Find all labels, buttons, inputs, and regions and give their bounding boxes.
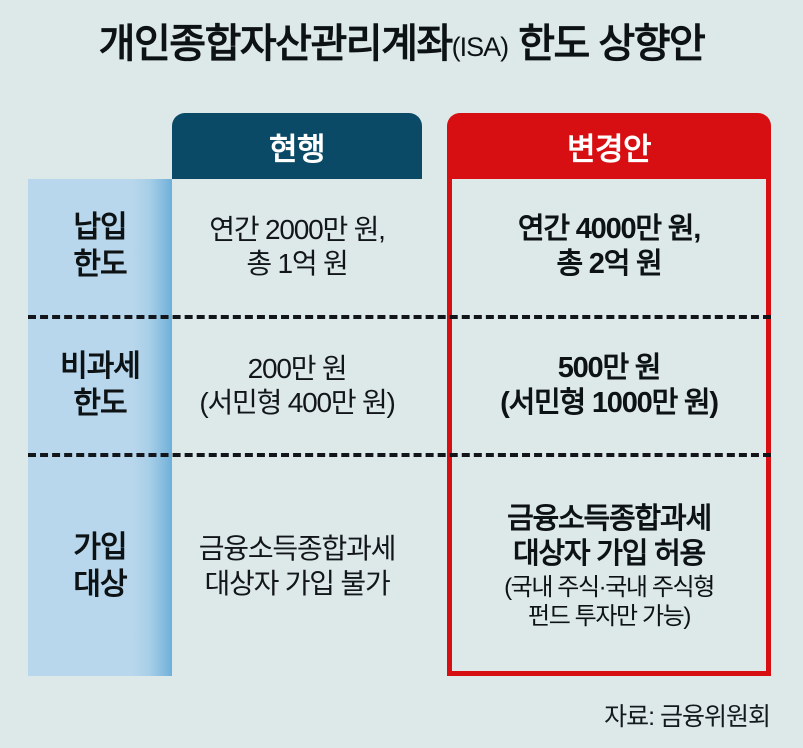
cell-current-payment-limit: 연간 2000만 원, 총 1억 원 xyxy=(172,179,422,315)
cell-note-line2: 펀드 투자만 가능) xyxy=(528,602,690,631)
cell-line1: 200만 원 xyxy=(248,352,347,386)
page-title-tail: 한도 상향안 xyxy=(508,24,704,64)
cell-line2: 대상자 가입 허용 xyxy=(513,537,705,572)
cell-line2: 총 1억 원 xyxy=(246,247,347,281)
cell-current-eligibility: 금융소득종합과세 대상자 가입 불가 xyxy=(172,457,422,676)
cell-line2: 총 2억 원 xyxy=(556,247,661,282)
row-label-line2: 한도 xyxy=(73,386,126,423)
column-header-current: 현행 xyxy=(172,113,422,179)
cell-line2: (서민형 1000만 원) xyxy=(500,386,718,421)
source-credit: 자료: 금융위원회 xyxy=(604,697,770,733)
cell-line1: 500만 원 xyxy=(558,351,661,386)
row-label-line1: 비과세 xyxy=(60,349,140,386)
cell-line2: 대상자 가입 불가 xyxy=(204,567,389,601)
row-label-eligibility: 가입 대상 xyxy=(28,457,172,676)
row-label-line1: 납입 xyxy=(73,210,126,247)
row-label-tax-free-limit: 비과세 한도 xyxy=(28,319,172,453)
cell-current-tax-free-limit: 200만 원 (서민형 400만 원) xyxy=(172,319,422,453)
cell-line2: (서민형 400만 원) xyxy=(199,386,394,420)
cell-proposed-tax-free-limit: 500만 원 (서민형 1000만 원) xyxy=(447,319,771,453)
cell-note-line1: (국내 주식·국내 주식형 xyxy=(504,573,714,602)
row-label-line2: 대상 xyxy=(73,567,126,604)
comparison-table: 현행 변경안 납입 한도 연간 2000만 원, 총 1억 원 연간 4000만… xyxy=(0,110,803,680)
page-title-main: 개인종합자산관리계좌 xyxy=(99,24,452,64)
row-label-payment-limit: 납입 한도 xyxy=(28,179,172,315)
column-header-proposed: 변경안 xyxy=(447,113,771,179)
row-label-line2: 한도 xyxy=(73,247,126,284)
cell-line1: 연간 2000만 원, xyxy=(209,213,384,247)
cell-line1: 연간 4000만 원, xyxy=(518,212,700,247)
cell-proposed-eligibility: 금융소득종합과세 대상자 가입 허용 (국내 주식·국내 주식형 펀드 투자만 … xyxy=(447,457,771,676)
page-title: 개인종합자산관리계좌(ISA)한도 상향안 xyxy=(0,24,803,80)
page-title-abbreviation: (ISA) xyxy=(452,34,509,61)
cell-proposed-payment-limit: 연간 4000만 원, 총 2억 원 xyxy=(447,179,771,315)
cell-line1: 금융소득종합과세 xyxy=(199,532,395,566)
row-label-line1: 가입 xyxy=(73,530,126,567)
cell-line1: 금융소득종합과세 xyxy=(507,502,711,537)
